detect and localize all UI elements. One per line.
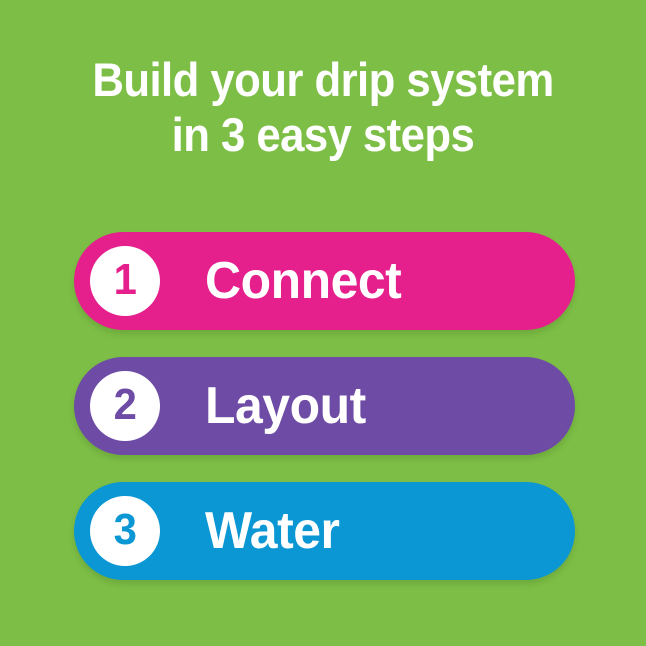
step-label-1: Connect [205, 255, 560, 307]
page-title-line-1: Build your drip system [23, 52, 624, 107]
page-title-line-2: in 3 easy steps [23, 107, 624, 162]
step-number-badge-3: 3 [90, 496, 160, 566]
step-item-1[interactable]: 1 Connect [74, 232, 575, 330]
step-number-badge-1: 1 [90, 246, 160, 316]
step-number-badge-2: 2 [90, 371, 160, 441]
step-item-2[interactable]: 2 Layout [74, 357, 575, 455]
step-item-3[interactable]: 3 Water [74, 482, 575, 580]
poster-canvas: Build your drip system in 3 easy steps 1… [0, 0, 646, 646]
step-label-3: Water [205, 505, 560, 557]
page-title: Build your drip system in 3 easy steps [0, 52, 646, 162]
step-number-3: 3 [113, 508, 136, 552]
step-number-1: 1 [113, 258, 136, 302]
step-label-2: Layout [205, 380, 560, 432]
steps-list: 1 Connect 2 Layout 3 Water [74, 232, 575, 580]
step-number-2: 2 [113, 383, 136, 427]
